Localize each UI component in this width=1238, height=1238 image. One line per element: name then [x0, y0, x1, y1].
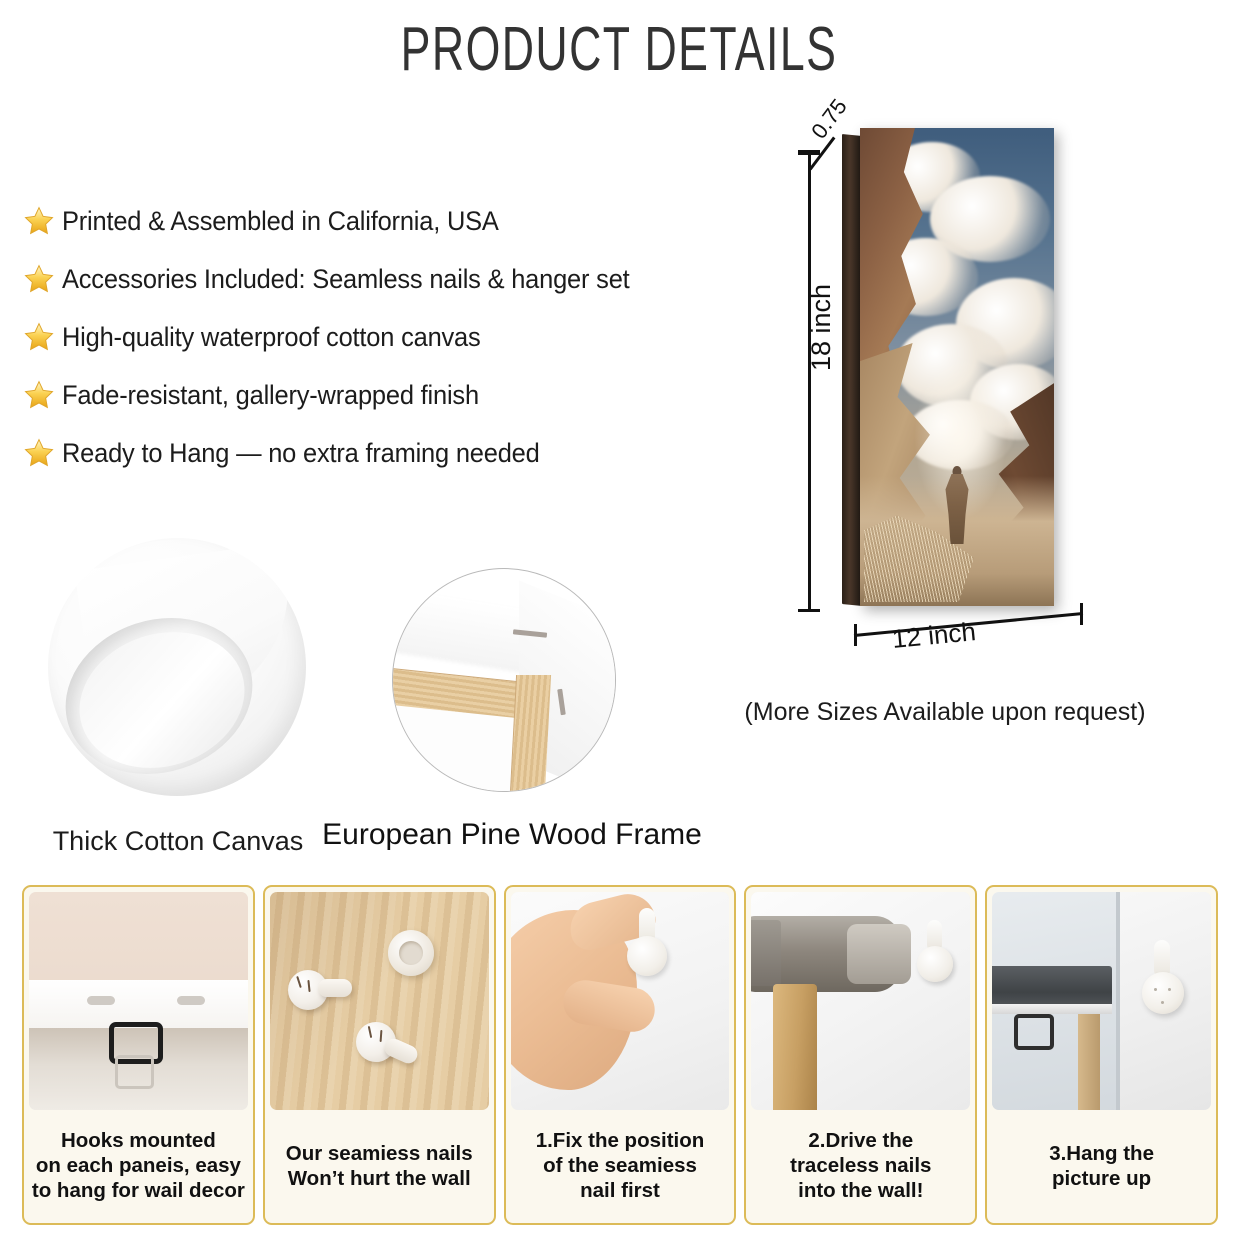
panel-white-strip: [29, 980, 248, 1028]
feature-label: Accessories Included: Seamless nails & h…: [62, 264, 630, 295]
instruction-card: Our seamiess nails Won’t hurt the wall: [263, 885, 496, 1225]
width-dimension-label: 12 inch: [891, 616, 977, 655]
seamless-nails-on-wood-photo: [270, 892, 489, 1110]
panel-slot: [177, 996, 205, 1005]
feature-item: Ready to Hang — no extra framing needed: [22, 424, 742, 482]
star-icon: [22, 262, 56, 296]
canvas-product-image: [842, 128, 1054, 614]
cotton-canvas-caption: Thick Cotton Canvas: [40, 826, 316, 857]
width-dimension-tick-right: [1080, 603, 1083, 625]
feature-list: Printed & Assembled in California, USA A…: [22, 192, 742, 482]
hook-loop-icon: [115, 1055, 154, 1089]
instruction-card: 2.Drive the traceless nails into the wal…: [744, 885, 977, 1225]
instruction-caption: 2.Drive the traceless nails into the wal…: [746, 1110, 975, 1223]
height-dimension-label: 18 inch: [806, 284, 837, 371]
feature-label: High-quality waterproof cotton canvas: [62, 322, 481, 353]
feature-label: Ready to Hang — no extra framing needed: [62, 438, 540, 469]
more-sizes-note: (More Sizes Available upon request): [735, 698, 1155, 727]
artwork-scene: [860, 128, 1054, 606]
instruction-caption: 3.Hang the picture up: [987, 1110, 1216, 1223]
hammer-claw-icon: [751, 920, 781, 986]
feature-item: High-quality waterproof cotton canvas: [22, 308, 742, 366]
pine-frame-closeup: [392, 568, 616, 792]
hand-holding-nail-on-wall-photo: [511, 892, 730, 1110]
instruction-card: Hooks mounted on each paneis, easy to ha…: [22, 885, 255, 1225]
hanging-bracket-icon: [1014, 1014, 1054, 1050]
instruction-card-row: Hooks mounted on each paneis, easy to ha…: [22, 885, 1218, 1225]
wood-shadow: [270, 892, 401, 1110]
figure-robe: [945, 474, 970, 544]
feature-item: Fade-resistant, gallery-wrapped finish: [22, 366, 742, 424]
seamless-nail-icon: [1142, 972, 1184, 1014]
picture-frame-bar: [992, 1004, 1112, 1014]
panel-slot: [87, 996, 115, 1005]
height-dimension-tick-top: [798, 152, 820, 155]
hammer-handle-icon: [773, 984, 817, 1110]
seamless-nail-icon: [627, 936, 667, 976]
product-details-infographic: PRODUCT DETAILS Printed & Assembled in C…: [0, 0, 1238, 1238]
page-title: PRODUCT DETAILS: [173, 14, 1064, 85]
hook-mounted-on-panel-photo: [29, 892, 248, 1110]
star-icon: [22, 436, 56, 470]
instruction-caption: Our seamiess nails Won’t hurt the wall: [265, 1110, 494, 1223]
height-dimension-line: [808, 152, 811, 612]
feature-label: Printed & Assembled in California, USA: [62, 206, 499, 237]
panel-upper-surface: [29, 892, 248, 980]
hanging-picture-on-nail-photo: [992, 892, 1211, 1110]
instruction-card: 1.Fix the position of the seamiess nail …: [504, 885, 737, 1225]
hammer-driving-nail-photo: [751, 892, 970, 1110]
feature-item: Accessories Included: Seamless nails & h…: [22, 250, 742, 308]
instruction-caption: 1.Fix the position of the seamiess nail …: [506, 1110, 735, 1223]
instruction-card: 3.Hang the picture up: [985, 885, 1218, 1225]
width-dimension-tick-left: [854, 624, 857, 646]
seamless-nail-cup-icon: [388, 930, 434, 976]
cotton-canvas-closeup: [48, 538, 306, 796]
pine-frame-caption: European Pine Wood Frame: [312, 818, 712, 852]
artwork-robed-figure: [944, 466, 970, 544]
canvas-artwork: [860, 128, 1054, 606]
feature-label: Fade-resistant, gallery-wrapped finish: [62, 380, 479, 411]
star-icon: [22, 320, 56, 354]
feature-item: Printed & Assembled in California, USA: [22, 192, 742, 250]
pine-stretcher-bar-vertical: [510, 675, 551, 792]
canvas-mockup: 0.75 18 inch: [780, 100, 1120, 670]
instruction-caption: Hooks mounted on each paneis, easy to ha…: [24, 1110, 253, 1223]
star-icon: [22, 204, 56, 238]
star-icon: [22, 378, 56, 412]
canvas-side-depth: [842, 134, 862, 606]
height-dimension-tick-bottom: [798, 609, 820, 612]
hammer-neck-icon: [847, 924, 911, 984]
